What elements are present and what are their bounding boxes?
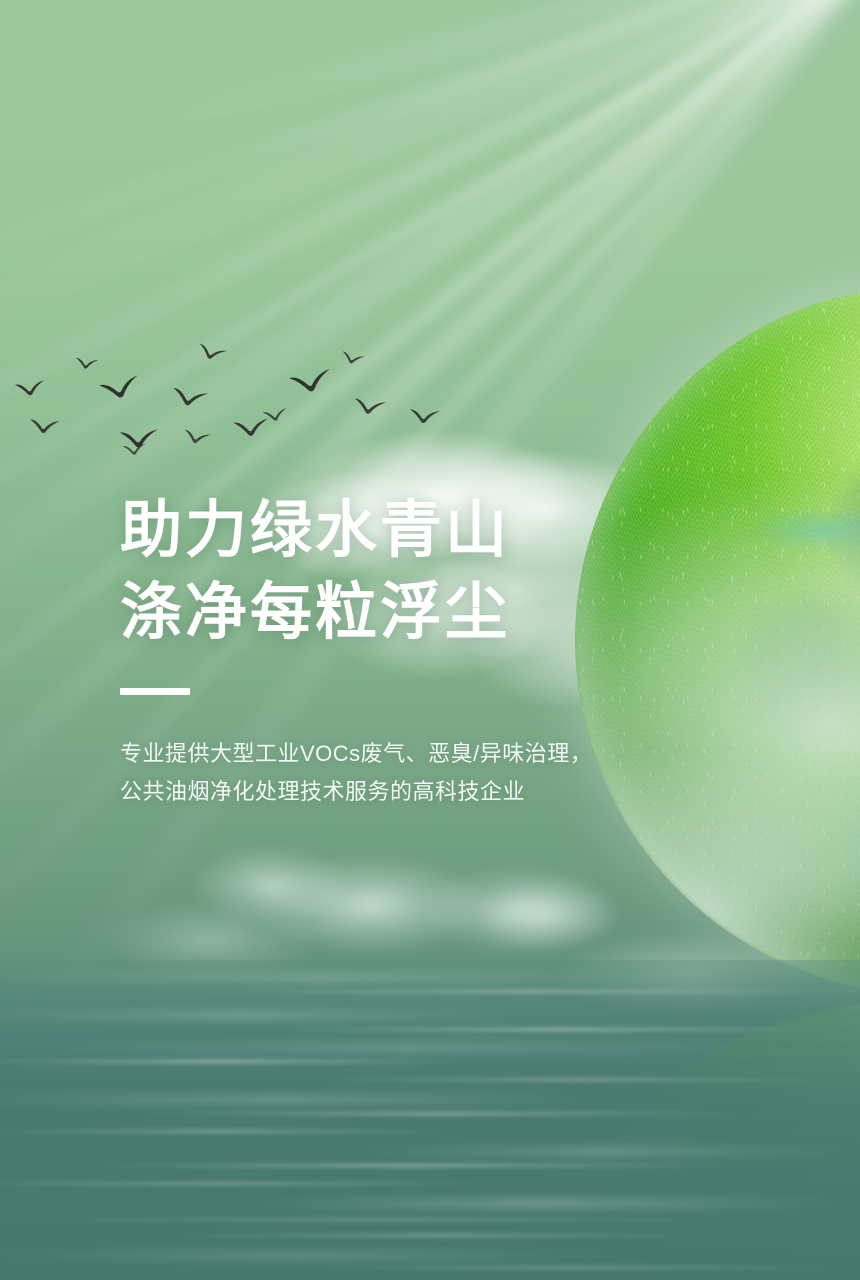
water-ripple <box>0 974 700 981</box>
poster-canvas: 助力绿水青山 涤净每粒浮尘 专业提供大型工业VOCs废气、恶臭/异味治理， 公共… <box>0 0 860 1280</box>
mist-icon <box>250 855 490 955</box>
water-ripple <box>300 1078 860 1081</box>
water-ripple <box>120 1112 760 1115</box>
bird-icon <box>121 442 148 459</box>
water-ripple <box>0 1060 480 1063</box>
water-ripple <box>180 990 860 993</box>
water-ripple <box>60 1164 760 1167</box>
water-ripple <box>0 1252 640 1259</box>
bird-icon <box>261 406 291 426</box>
water-ripple <box>0 1182 520 1185</box>
water-surface <box>0 960 860 1280</box>
bird-icon <box>27 417 62 437</box>
mist-icon <box>190 845 350 925</box>
subtitle-line-2: 公共油烟净化处理技术服务的高科技企业 <box>120 773 740 811</box>
headline-line-1: 助力绿水青山 <box>120 490 740 572</box>
bird-icon <box>96 372 146 406</box>
sun-ray <box>0 0 860 199</box>
bird-icon <box>286 365 338 399</box>
headline-line-2: 涤净每粒浮尘 <box>120 572 740 654</box>
water-ripple <box>340 1148 860 1155</box>
bird-icon <box>407 407 442 427</box>
bird-icon <box>194 341 229 366</box>
page-title: 助力绿水青山 涤净每粒浮尘 <box>120 490 740 654</box>
bird-icon <box>117 426 162 452</box>
sun-ray <box>0 0 860 298</box>
water-ripple <box>160 1234 720 1237</box>
bird-icon <box>13 378 49 401</box>
water-ripple <box>0 1130 460 1133</box>
bird-icon <box>73 356 100 373</box>
water-ripple <box>0 1096 630 1103</box>
water-ripple <box>260 1028 860 1031</box>
water-ripple <box>220 1200 860 1207</box>
bird-icon <box>339 349 368 369</box>
water-ripple <box>0 1218 760 1221</box>
bird-icon <box>181 427 214 449</box>
bird-icon <box>168 385 211 413</box>
bird-icon <box>231 416 273 441</box>
mist-icon <box>420 865 620 955</box>
subtitle-line-1: 专业提供大型工业VOCs废气、恶臭/异味治理， <box>120 735 740 773</box>
mist-icon <box>470 880 620 950</box>
bird-icon <box>351 396 389 420</box>
hero-text-block: 助力绿水青山 涤净每粒浮尘 专业提供大型工业VOCs废气、恶臭/异味治理， 公共… <box>120 490 740 811</box>
water-ripple <box>280 1266 860 1269</box>
subtitle: 专业提供大型工业VOCs废气、恶臭/异味治理， 公共油烟净化处理技术服务的高科技… <box>120 735 740 811</box>
accent-rule <box>120 688 190 695</box>
water-ripple <box>0 1012 560 1019</box>
water-ripple <box>0 1044 820 1051</box>
